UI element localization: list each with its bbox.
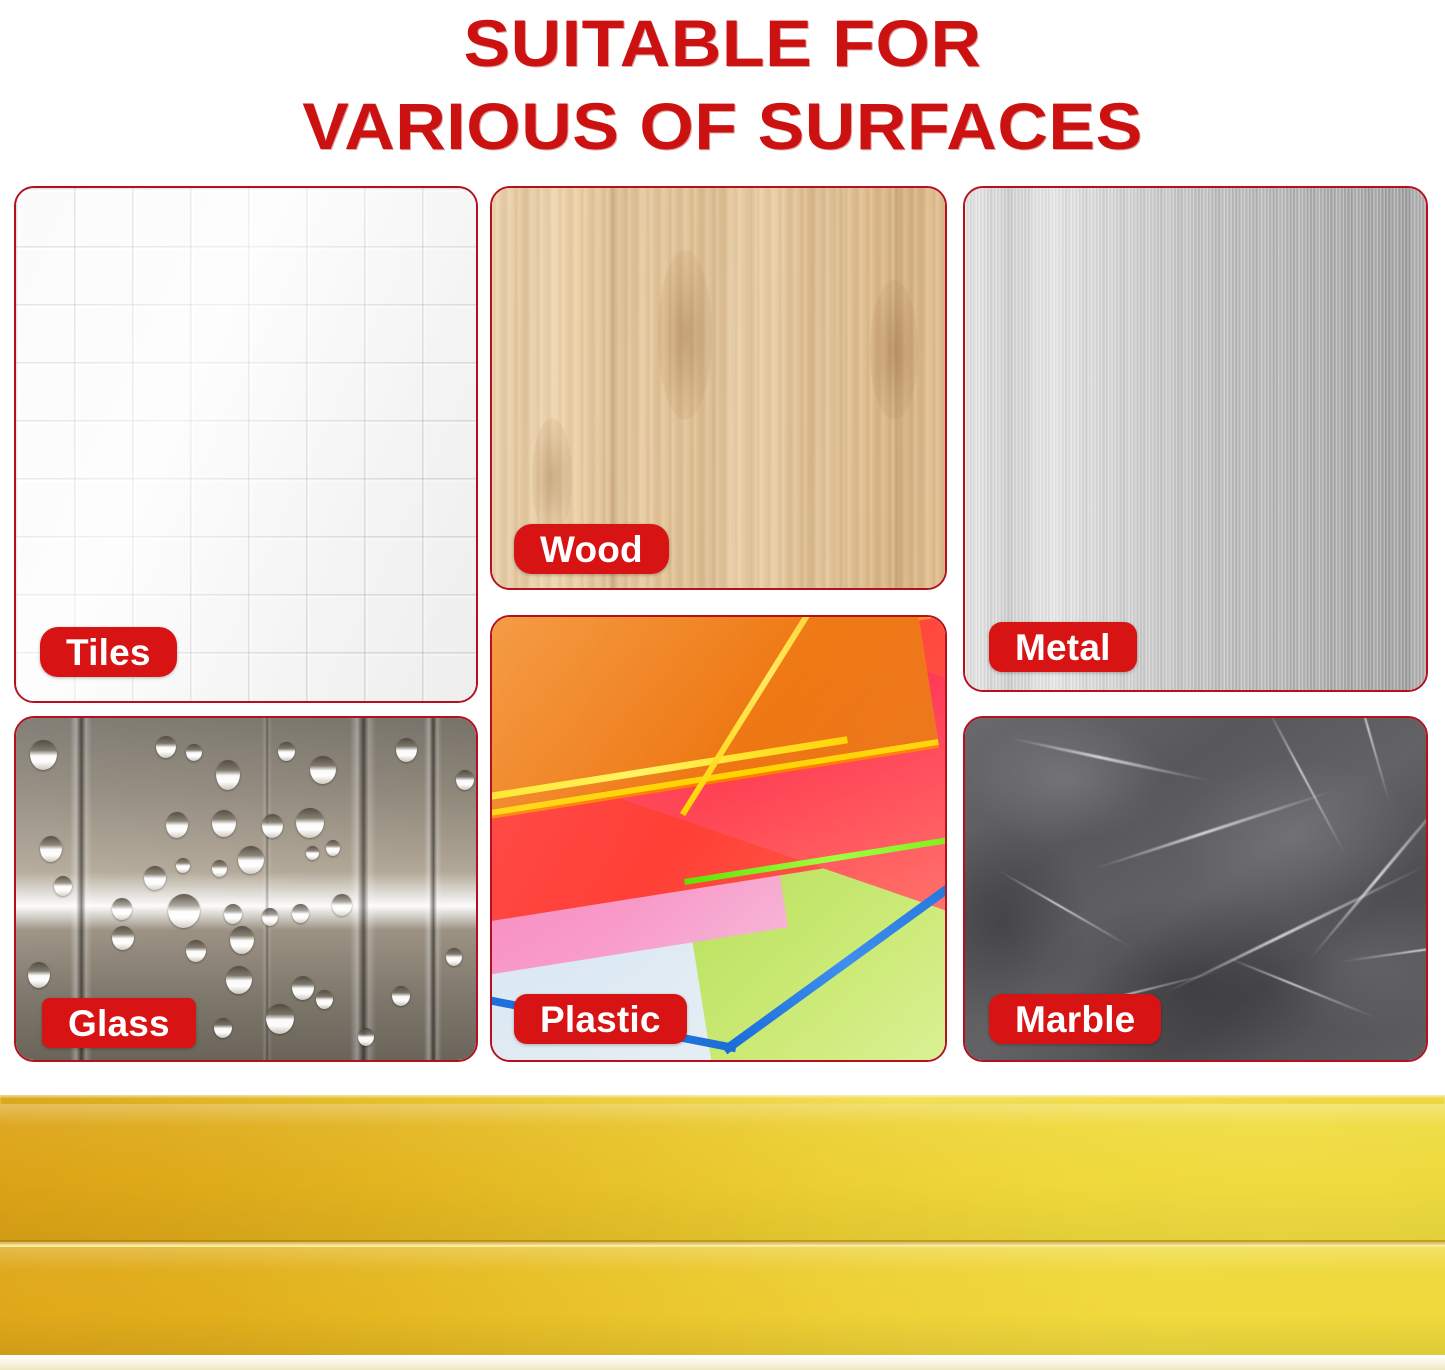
- tiles-image: [16, 188, 476, 701]
- surface-card-metal: Metal: [963, 186, 1428, 692]
- tile-sheen-overlay: [16, 188, 476, 701]
- page-title-line-2: VARIOUS OF SURFACES: [0, 85, 1445, 168]
- blade-bottom-edge: [0, 1356, 1445, 1370]
- surface-card-plastic: Plastic: [490, 615, 947, 1062]
- surface-label-plastic: Plastic: [514, 994, 687, 1044]
- surface-card-marble: Marble: [963, 716, 1428, 1062]
- infographic-root: SUITABLE FOR VARIOUS OF SURFACES Tiles W…: [0, 0, 1445, 1370]
- blade-upper-face: [0, 1104, 1445, 1242]
- surface-label-tiles: Tiles: [40, 627, 177, 677]
- glass-streak: [350, 716, 376, 1062]
- glass-streak: [424, 716, 442, 1062]
- surface-card-tiles: Tiles: [14, 186, 478, 703]
- surface-card-wood: Wood: [490, 186, 947, 590]
- page-title: SUITABLE FOR VARIOUS OF SURFACES: [0, 2, 1445, 168]
- wood-grain-line: [747, 188, 756, 588]
- wood-grain-line: [837, 188, 844, 588]
- surface-label-metal: Metal: [989, 622, 1137, 672]
- page-title-line-1: SUITABLE FOR: [0, 2, 1445, 85]
- surface-card-glass: Glass: [14, 716, 478, 1062]
- brushed-metal-texture: [965, 188, 1426, 690]
- yellow-applicator-blade: [0, 1095, 1445, 1370]
- wood-knot: [658, 250, 712, 420]
- surface-label-glass: Glass: [42, 998, 196, 1048]
- metal-image: [965, 188, 1426, 690]
- surface-label-marble: Marble: [989, 994, 1161, 1044]
- blade-lower-face: [0, 1247, 1445, 1355]
- wood-knot: [532, 418, 572, 538]
- surface-label-wood: Wood: [514, 524, 669, 574]
- wood-knot: [870, 280, 918, 420]
